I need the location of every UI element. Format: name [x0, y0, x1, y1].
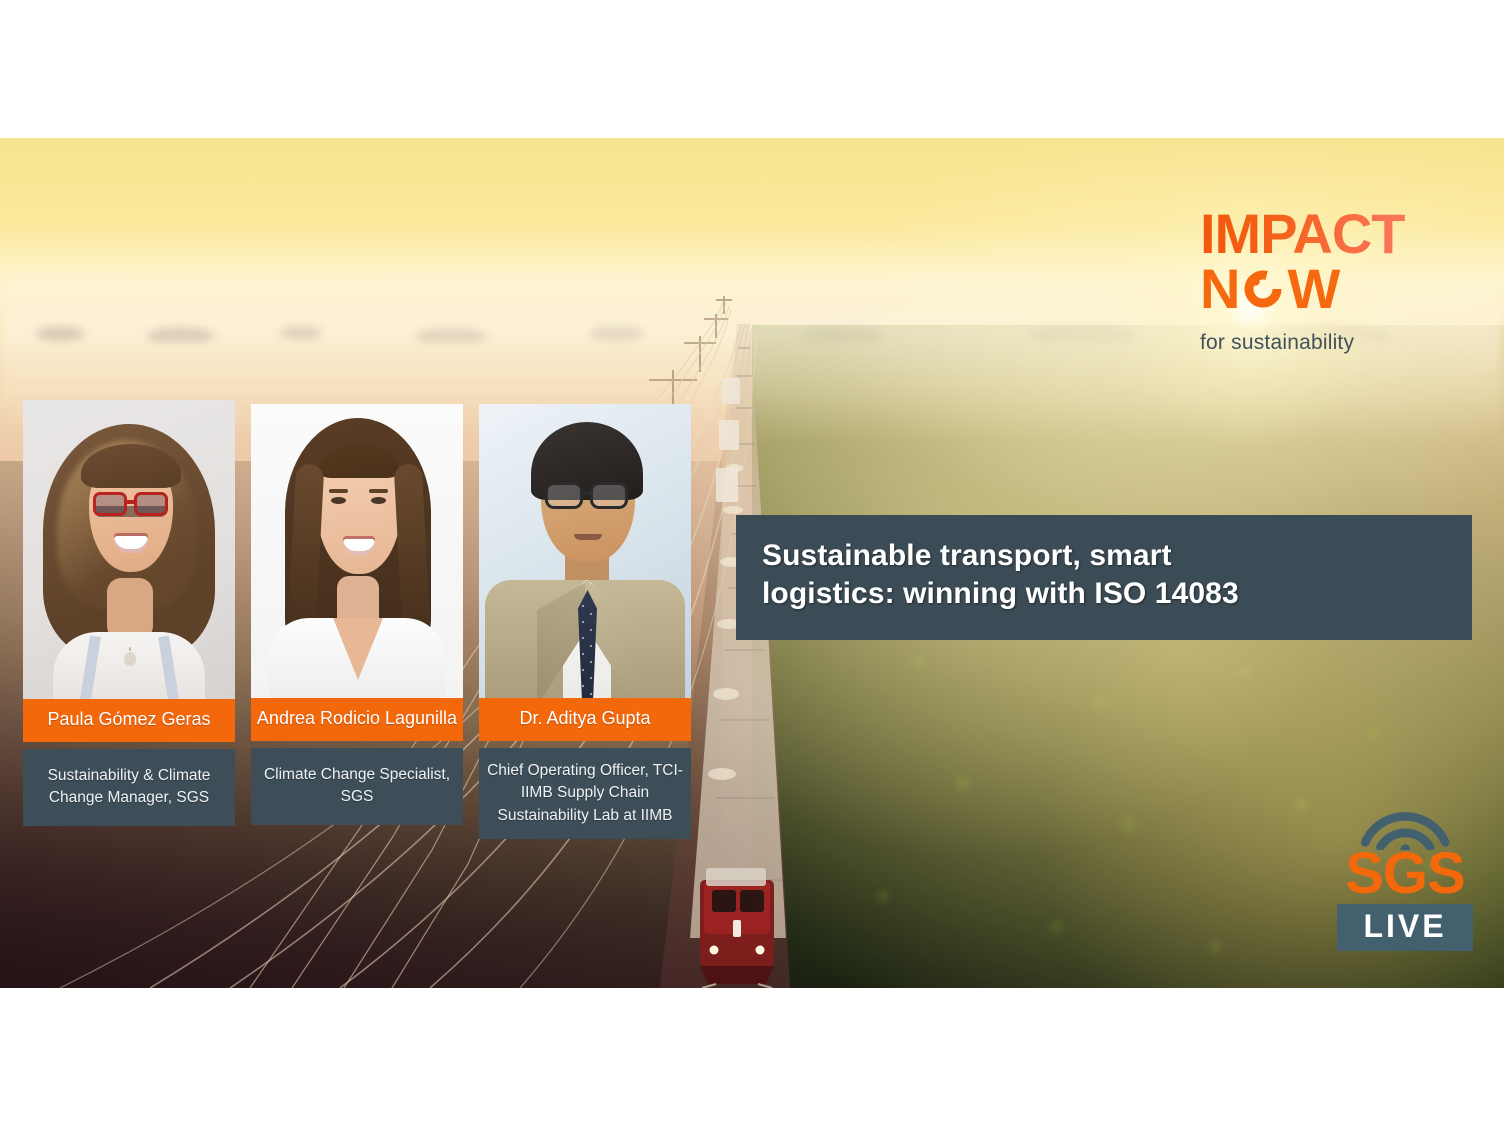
avatar	[479, 404, 691, 698]
speaker-role: Chief Operating Officer, TCI-IIMB Supply…	[479, 748, 691, 839]
logo-impact-word: IMPACT	[1200, 208, 1460, 260]
live-badge: LIVE	[1337, 904, 1473, 951]
speaker-role: Climate Change Specialist, SGS	[251, 748, 463, 825]
speaker-role: Sustainability & Climate Change Manager,…	[23, 749, 235, 826]
sgs-live-logo: SGS LIVE	[1337, 808, 1473, 951]
stylized-o-icon	[1242, 268, 1284, 310]
slide-page: IMPACT N W for sustainability Sustainabl…	[0, 0, 1504, 1128]
speaker-name: Andrea Rodicio Lagunilla	[251, 698, 463, 741]
avatar	[251, 404, 463, 698]
logo-tagline: for sustainability	[1200, 331, 1460, 355]
logo-now-word: N W	[1200, 260, 1460, 317]
webinar-slide: IMPACT N W for sustainability Sustainabl…	[0, 138, 1504, 988]
speaker-card-andrea: Andrea Rodicio Lagunilla Climate Change …	[251, 404, 463, 825]
avatar	[23, 400, 235, 699]
speaker-card-paula: Paula Gómez Geras Sustainability & Clima…	[23, 400, 235, 826]
speaker-name: Dr. Aditya Gupta	[479, 698, 691, 741]
title-banner: Sustainable transport, smart logistics: …	[736, 515, 1472, 640]
title-line-2: logistics: winning with ISO 14083	[762, 575, 1446, 613]
speaker-name: Paula Gómez Geras	[23, 699, 235, 742]
sgs-wordmark: SGS	[1337, 848, 1473, 900]
logo-now-w: W	[1287, 260, 1339, 317]
title-line-1: Sustainable transport, smart	[762, 537, 1446, 575]
speaker-card-aditya: Dr. Aditya Gupta Chief Operating Officer…	[479, 404, 691, 839]
impact-now-logo: IMPACT N W for sustainability	[1200, 208, 1460, 355]
logo-now-n: N	[1200, 260, 1239, 317]
